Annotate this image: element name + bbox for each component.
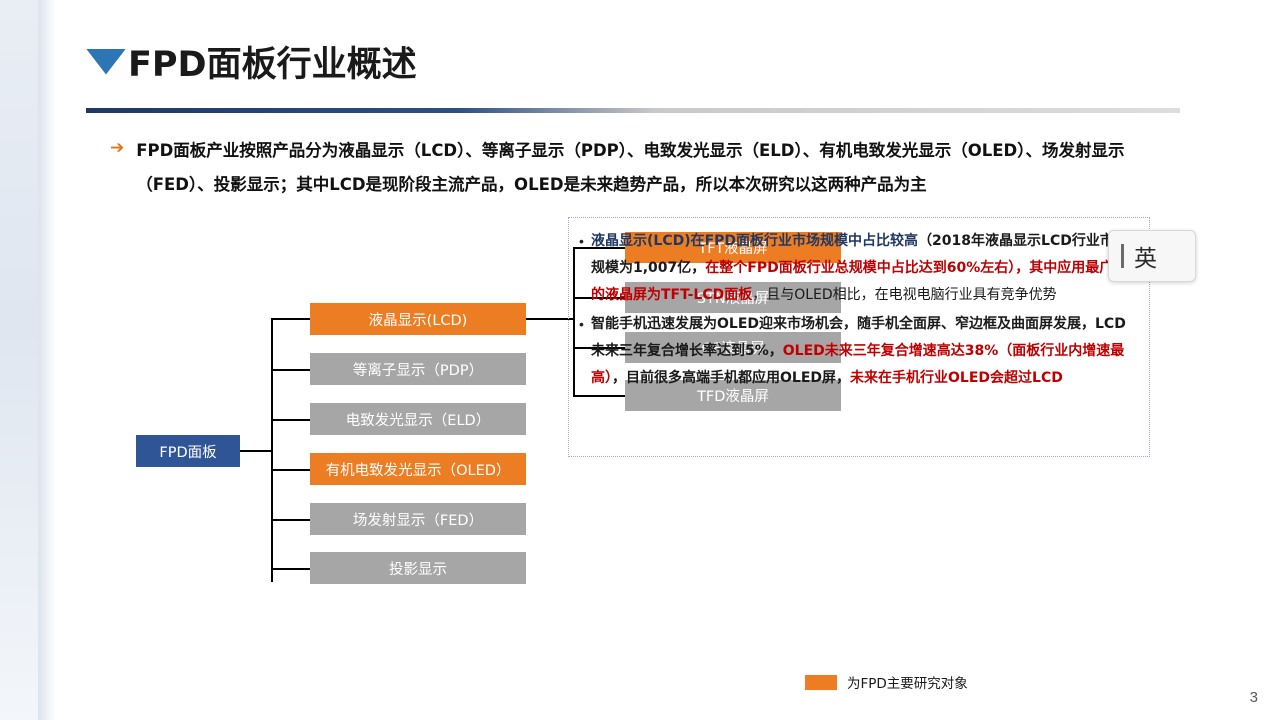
node-oled: 有机电致发光显示（OLED） (310, 453, 526, 485)
connector-level1-branch-1 (271, 318, 310, 320)
analysis-item-2: • 智能手机迅速发展为OLED迎来市场机会，随手机全面屏、窄边框及曲面屏发展，L… (579, 311, 1135, 392)
node-pdp-label: 等离子显示（PDP） (353, 359, 483, 380)
connector-level1-branch-5 (271, 519, 310, 521)
connector-level1-spine (271, 318, 273, 582)
connector-lcd-stem (526, 318, 574, 320)
triangle-marker-icon (86, 49, 126, 75)
floating-ime-chip[interactable]: 英 (1108, 230, 1196, 282)
node-eld-label: 电致发光显示（ELD） (346, 409, 490, 430)
bullet-dot-icon-2: • (579, 311, 591, 338)
node-eld: 电致发光显示（ELD） (310, 403, 526, 435)
node-lcd-label: 液晶显示(LCD) (369, 309, 468, 330)
chip-label: 英 (1134, 239, 1157, 273)
arrow-bullet-icon: ➔ (110, 138, 124, 158)
analysis-item-2-seg4: 未来在手机行业OLED会超过LCD (850, 370, 1063, 386)
legend: 为FPD主要研究对象 (805, 672, 968, 692)
analysis-textbox: • 液晶显示(LCD)在FPD面板行业市场规模中占比较高（2018年液晶显示LC… (568, 217, 1150, 457)
node-pdp: 等离子显示（PDP） (310, 353, 526, 385)
connector-level1-branch-3 (271, 419, 310, 421)
lead-paragraph: ➔ FPD面板产业按照产品分为液晶显示（LCD）、等离子显示（PDP）、电致发光… (110, 134, 1190, 202)
analysis-item-1-seg4: ，且与OLED相比，在电视电脑行业具有竞争优势 (752, 287, 1056, 303)
node-root-label: FPD面板 (159, 441, 216, 462)
analysis-item-1-seg1: 液晶显示(LCD)在FPD面板行业市场规模中占比较高 (591, 233, 918, 249)
connector-level1-branch-6 (271, 568, 310, 570)
node-projection-label: 投影显示 (389, 558, 447, 579)
chip-indicator-icon (1121, 244, 1124, 268)
legend-color-swatch (805, 675, 837, 690)
connector-root-stem (240, 450, 272, 452)
lead-paragraph-text: FPD面板产业按照产品分为液晶显示（LCD）、等离子显示（PDP）、电致发光显示… (136, 134, 1190, 202)
node-lcd: 液晶显示(LCD) (310, 303, 526, 335)
analysis-item-2-text: 智能手机迅速发展为OLED迎来市场机会，随手机全面屏、窄边框及曲面屏发展，LCD… (591, 311, 1135, 392)
bullet-dot-icon: • (579, 228, 591, 255)
analysis-item-1: • 液晶显示(LCD)在FPD面板行业市场规模中占比较高（2018年液晶显示LC… (579, 228, 1135, 309)
node-oled-label: 有机电致发光显示（OLED） (326, 459, 511, 480)
title-divider (86, 108, 1180, 113)
page-title-text: FPD面板行业概述 (128, 36, 417, 87)
page-title: FPD面板行业概述 (86, 36, 417, 87)
legend-label: 为FPD主要研究对象 (847, 672, 968, 692)
node-projection: 投影显示 (310, 552, 526, 584)
connector-level1-branch-2 (271, 369, 310, 371)
analysis-item-1-text: 液晶显示(LCD)在FPD面板行业市场规模中占比较高（2018年液晶显示LCD行… (591, 228, 1135, 309)
page-number: 3 (1250, 689, 1258, 706)
node-fed: 场发射显示（FED） (310, 503, 526, 535)
node-root: FPD面板 (136, 435, 240, 467)
analysis-item-2-seg3: ，目前很多高端手机都应用OLED屏， (612, 370, 850, 386)
connector-level1-branch-4 (271, 469, 310, 471)
node-fed-label: 场发射显示（FED） (353, 509, 483, 530)
